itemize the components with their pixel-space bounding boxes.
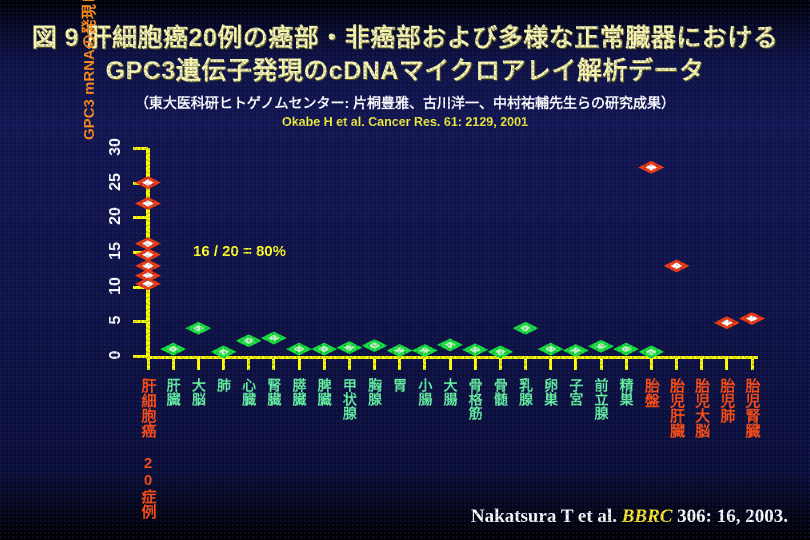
x-axis-label-1: 肝臓 bbox=[166, 378, 181, 406]
x-axis-tick bbox=[675, 359, 678, 370]
data-point-normal bbox=[412, 344, 438, 357]
slide-canvas: 図 9 肝細胞癌20例の癌部・非癌部および多様な正常臓器における GPC3遺伝子… bbox=[0, 0, 810, 540]
footer-journal: BBRC bbox=[622, 506, 673, 527]
x-axis-label-14: 骨髄 bbox=[493, 378, 508, 406]
data-point-normal bbox=[462, 343, 488, 356]
x-axis-label-10: 胃 bbox=[392, 378, 407, 392]
x-axis-tick bbox=[700, 359, 703, 370]
data-point-normal bbox=[311, 343, 337, 356]
y-tick-label: 15 bbox=[107, 238, 125, 264]
x-axis-label-19: 精巣 bbox=[619, 378, 634, 406]
data-point-normal bbox=[387, 344, 413, 357]
data-point-cancer bbox=[135, 176, 161, 189]
y-axis-tick bbox=[133, 147, 148, 150]
x-axis-tick bbox=[549, 359, 552, 370]
x-axis-tick bbox=[423, 359, 426, 370]
x-axis-label-20: 胎盤 bbox=[644, 378, 659, 408]
x-axis-tick bbox=[524, 359, 527, 370]
x-axis-tick bbox=[625, 359, 628, 370]
y-tick-label: 0 bbox=[107, 342, 125, 368]
data-point-normal bbox=[160, 343, 186, 356]
slide-title-line1: 図 9 肝細胞癌20例の癌部・非癌部および多様な正常臓器における bbox=[0, 22, 810, 55]
y-tick-label: 20 bbox=[107, 203, 125, 229]
x-axis-tick bbox=[600, 359, 603, 370]
x-axis-label-0: 肝細胞癌 20症例 bbox=[141, 378, 156, 519]
x-axis-tick bbox=[298, 359, 301, 370]
data-point-normal bbox=[236, 334, 262, 347]
x-axis-label-7: 脾臓 bbox=[317, 378, 332, 406]
x-axis-tick bbox=[650, 359, 653, 370]
slide-title-line2: GPC3遺伝子発現のcDNAマイクロアレイ解析データ bbox=[0, 55, 810, 88]
x-axis-tick bbox=[725, 359, 728, 370]
y-tick-label: 30 bbox=[107, 134, 125, 160]
x-axis-tick bbox=[147, 359, 150, 370]
x-axis-tick bbox=[474, 359, 477, 370]
x-axis-label-3: 肺 bbox=[216, 378, 231, 392]
x-axis-tick bbox=[751, 359, 754, 370]
data-point-cancer bbox=[135, 197, 161, 210]
data-point-cancer bbox=[714, 316, 740, 329]
title-block: 図 9 肝細胞癌20例の癌部・非癌部および多様な正常臓器における GPC3遺伝子… bbox=[0, 22, 810, 131]
x-axis-label-9: 胸腺 bbox=[367, 378, 382, 406]
x-axis-label-15: 乳腺 bbox=[518, 378, 533, 406]
x-axis-tick bbox=[197, 359, 200, 370]
x-axis-tick bbox=[398, 359, 401, 370]
x-axis-label-22: 胎児大脳 bbox=[694, 378, 709, 438]
x-axis-label-13: 骨格筋 bbox=[468, 378, 483, 420]
x-axis-label-2: 大脳 bbox=[191, 378, 206, 406]
x-axis-label-8: 甲状腺 bbox=[342, 378, 357, 420]
y-tick-label: 10 bbox=[107, 273, 125, 299]
y-axis-label: GPC3 mRNAの発現レベル bbox=[78, 0, 100, 140]
data-point-normal bbox=[336, 341, 362, 354]
x-axis-tick bbox=[449, 359, 452, 370]
data-point-normal bbox=[185, 322, 211, 335]
y-axis-tick bbox=[133, 320, 148, 323]
y-axis-tick bbox=[133, 355, 148, 358]
x-axis-tick bbox=[348, 359, 351, 370]
x-axis-label-21: 胎児肝臓 bbox=[669, 378, 684, 438]
data-point-cancer bbox=[135, 277, 161, 290]
data-point-cancer bbox=[638, 161, 664, 174]
data-point-normal bbox=[513, 322, 539, 335]
data-point-normal bbox=[563, 344, 589, 357]
x-axis-tick bbox=[272, 359, 275, 370]
data-point-normal bbox=[286, 343, 312, 356]
y-axis-tick bbox=[133, 216, 148, 219]
x-axis-label-6: 膵臓 bbox=[292, 378, 307, 406]
x-axis-label-11: 小腸 bbox=[417, 378, 432, 406]
data-point-normal bbox=[613, 343, 639, 356]
x-axis-label-16: 卵巣 bbox=[543, 378, 558, 406]
x-axis-tick bbox=[323, 359, 326, 370]
x-axis-label-17: 子宮 bbox=[568, 378, 583, 406]
data-point-normal bbox=[538, 343, 564, 356]
x-axis-label-12: 大腸 bbox=[443, 378, 458, 406]
percentage-annotation: 16 / 20 = 80% bbox=[193, 243, 286, 260]
x-axis-label-5: 腎臓 bbox=[266, 378, 281, 406]
footer-authors: Nakatsura T et al. bbox=[471, 506, 617, 527]
data-point-normal bbox=[638, 345, 664, 358]
x-axis-label-18: 前立腺 bbox=[594, 378, 609, 420]
reference-citation: Okabe H et al. Cancer Res. 61: 2129, 200… bbox=[0, 114, 810, 131]
x-axis-tick bbox=[247, 359, 250, 370]
x-axis-tick bbox=[172, 359, 175, 370]
data-point-cancer bbox=[739, 312, 765, 325]
x-axis-tick bbox=[373, 359, 376, 370]
data-point-normal bbox=[487, 345, 513, 358]
data-point-normal bbox=[211, 345, 237, 358]
x-axis-label-4: 心臓 bbox=[241, 378, 256, 406]
y-tick-label: 5 bbox=[107, 307, 125, 333]
x-axis-tick bbox=[222, 359, 225, 370]
footer-volume-page: 306: 16, 2003. bbox=[677, 506, 788, 527]
data-point-normal bbox=[261, 331, 287, 344]
y-tick-label: 25 bbox=[107, 169, 125, 195]
data-point-normal bbox=[437, 338, 463, 351]
slide-subtitle: （東大医科研ヒトゲノムセンター: 片桐豊雅、古川洋一、中村祐輔先生らの研究成果） bbox=[0, 94, 810, 113]
x-axis-label-24: 胎児腎臓 bbox=[745, 378, 760, 438]
x-axis-line bbox=[148, 356, 758, 359]
data-point-normal bbox=[588, 340, 614, 353]
x-axis-tick bbox=[574, 359, 577, 370]
data-point-normal bbox=[362, 339, 388, 352]
x-axis-tick bbox=[499, 359, 502, 370]
data-point-cancer bbox=[664, 259, 690, 272]
x-axis-label-23: 胎児肺 bbox=[719, 378, 734, 423]
footer-citation: Nakatsura T et al. BBRC 306: 16, 2003. bbox=[0, 506, 788, 528]
